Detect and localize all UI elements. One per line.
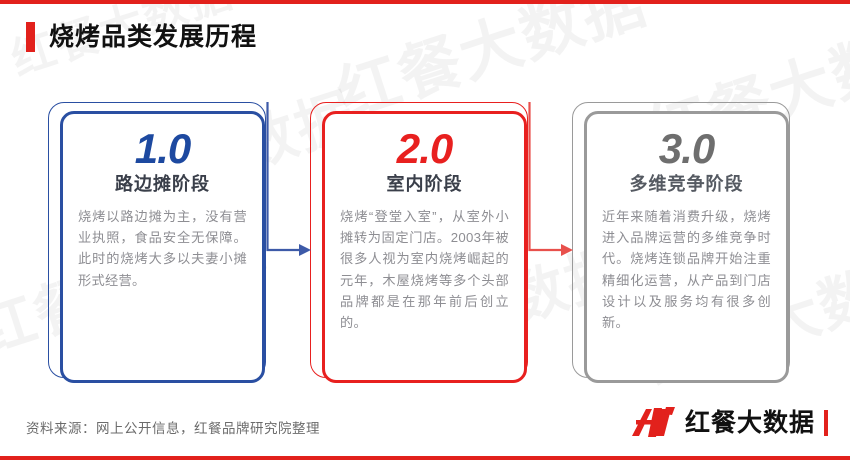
stage-card-3[interactable]: 3.0 多维竞争阶段 近年来随着消费升级，烧烤进入品牌运营的多维竞争时代。烧烤连…	[572, 102, 800, 394]
stage-description: 烧烤“登堂入室”，从室外小摊转为固定门店。2003年被很多人视为室内烧烤崛起的元…	[340, 206, 509, 334]
stage-number: 2.0	[340, 128, 509, 170]
page-header: 烧烤品类发展历程	[26, 22, 257, 52]
logo-accent-bar	[824, 410, 828, 436]
stage-name: 多维竞争阶段	[602, 174, 771, 196]
stage-name: 路边摊阶段	[78, 174, 247, 196]
timeline-stages: 1.0 路边摊阶段 烧烤以路边摊为主，没有营业执照，食品安全无保障。此时的烧烤大…	[0, 102, 850, 394]
stage-name: 室内阶段	[340, 174, 509, 196]
card-body: 3.0 多维竞争阶段 近年来随着消费升级，烧烤进入品牌运营的多维竞争时代。烧烤连…	[584, 111, 789, 383]
h-monogram-icon	[630, 406, 676, 440]
logo-text: 红餐大数据	[685, 411, 815, 436]
title-accent-bar	[26, 22, 35, 52]
arrow-stage2-to-stage3	[528, 102, 578, 262]
stage-card-2[interactable]: 2.0 室内阶段 烧烤“登堂入室”，从室外小摊转为固定门店。2003年被很多人视…	[310, 102, 538, 394]
stage-number: 3.0	[602, 128, 771, 170]
stage-number: 1.0	[78, 128, 247, 170]
brand-logo: 红餐大数据	[630, 406, 828, 440]
card-body: 2.0 室内阶段 烧烤“登堂入室”，从室外小摊转为固定门店。2003年被很多人视…	[322, 111, 527, 383]
stage-card-1[interactable]: 1.0 路边摊阶段 烧烤以路边摊为主，没有营业执照，食品安全无保障。此时的烧烤大…	[48, 102, 276, 394]
source-note: 资料来源：网上公开信息，红餐品牌研究院整理	[26, 417, 320, 437]
infographic-page: 红餐大数据 红餐大数据 红餐大数据 红餐大数据 红餐大数据 红餐大数据 红餐大数…	[0, 0, 850, 460]
arrow-stage1-to-stage2	[266, 102, 316, 262]
card-body: 1.0 路边摊阶段 烧烤以路边摊为主，没有营业执照，食品安全无保障。此时的烧烤大…	[60, 111, 265, 383]
stage-description: 近年来随着消费升级，烧烤进入品牌运营的多维竞争时代。烧烤连锁品牌开始注重精细化运…	[602, 206, 771, 334]
page-title: 烧烤品类发展历程	[49, 25, 257, 50]
stage-description: 烧烤以路边摊为主，没有营业执照，食品安全无保障。此时的烧烤大多以夫妻小摊形式经营…	[78, 206, 247, 292]
